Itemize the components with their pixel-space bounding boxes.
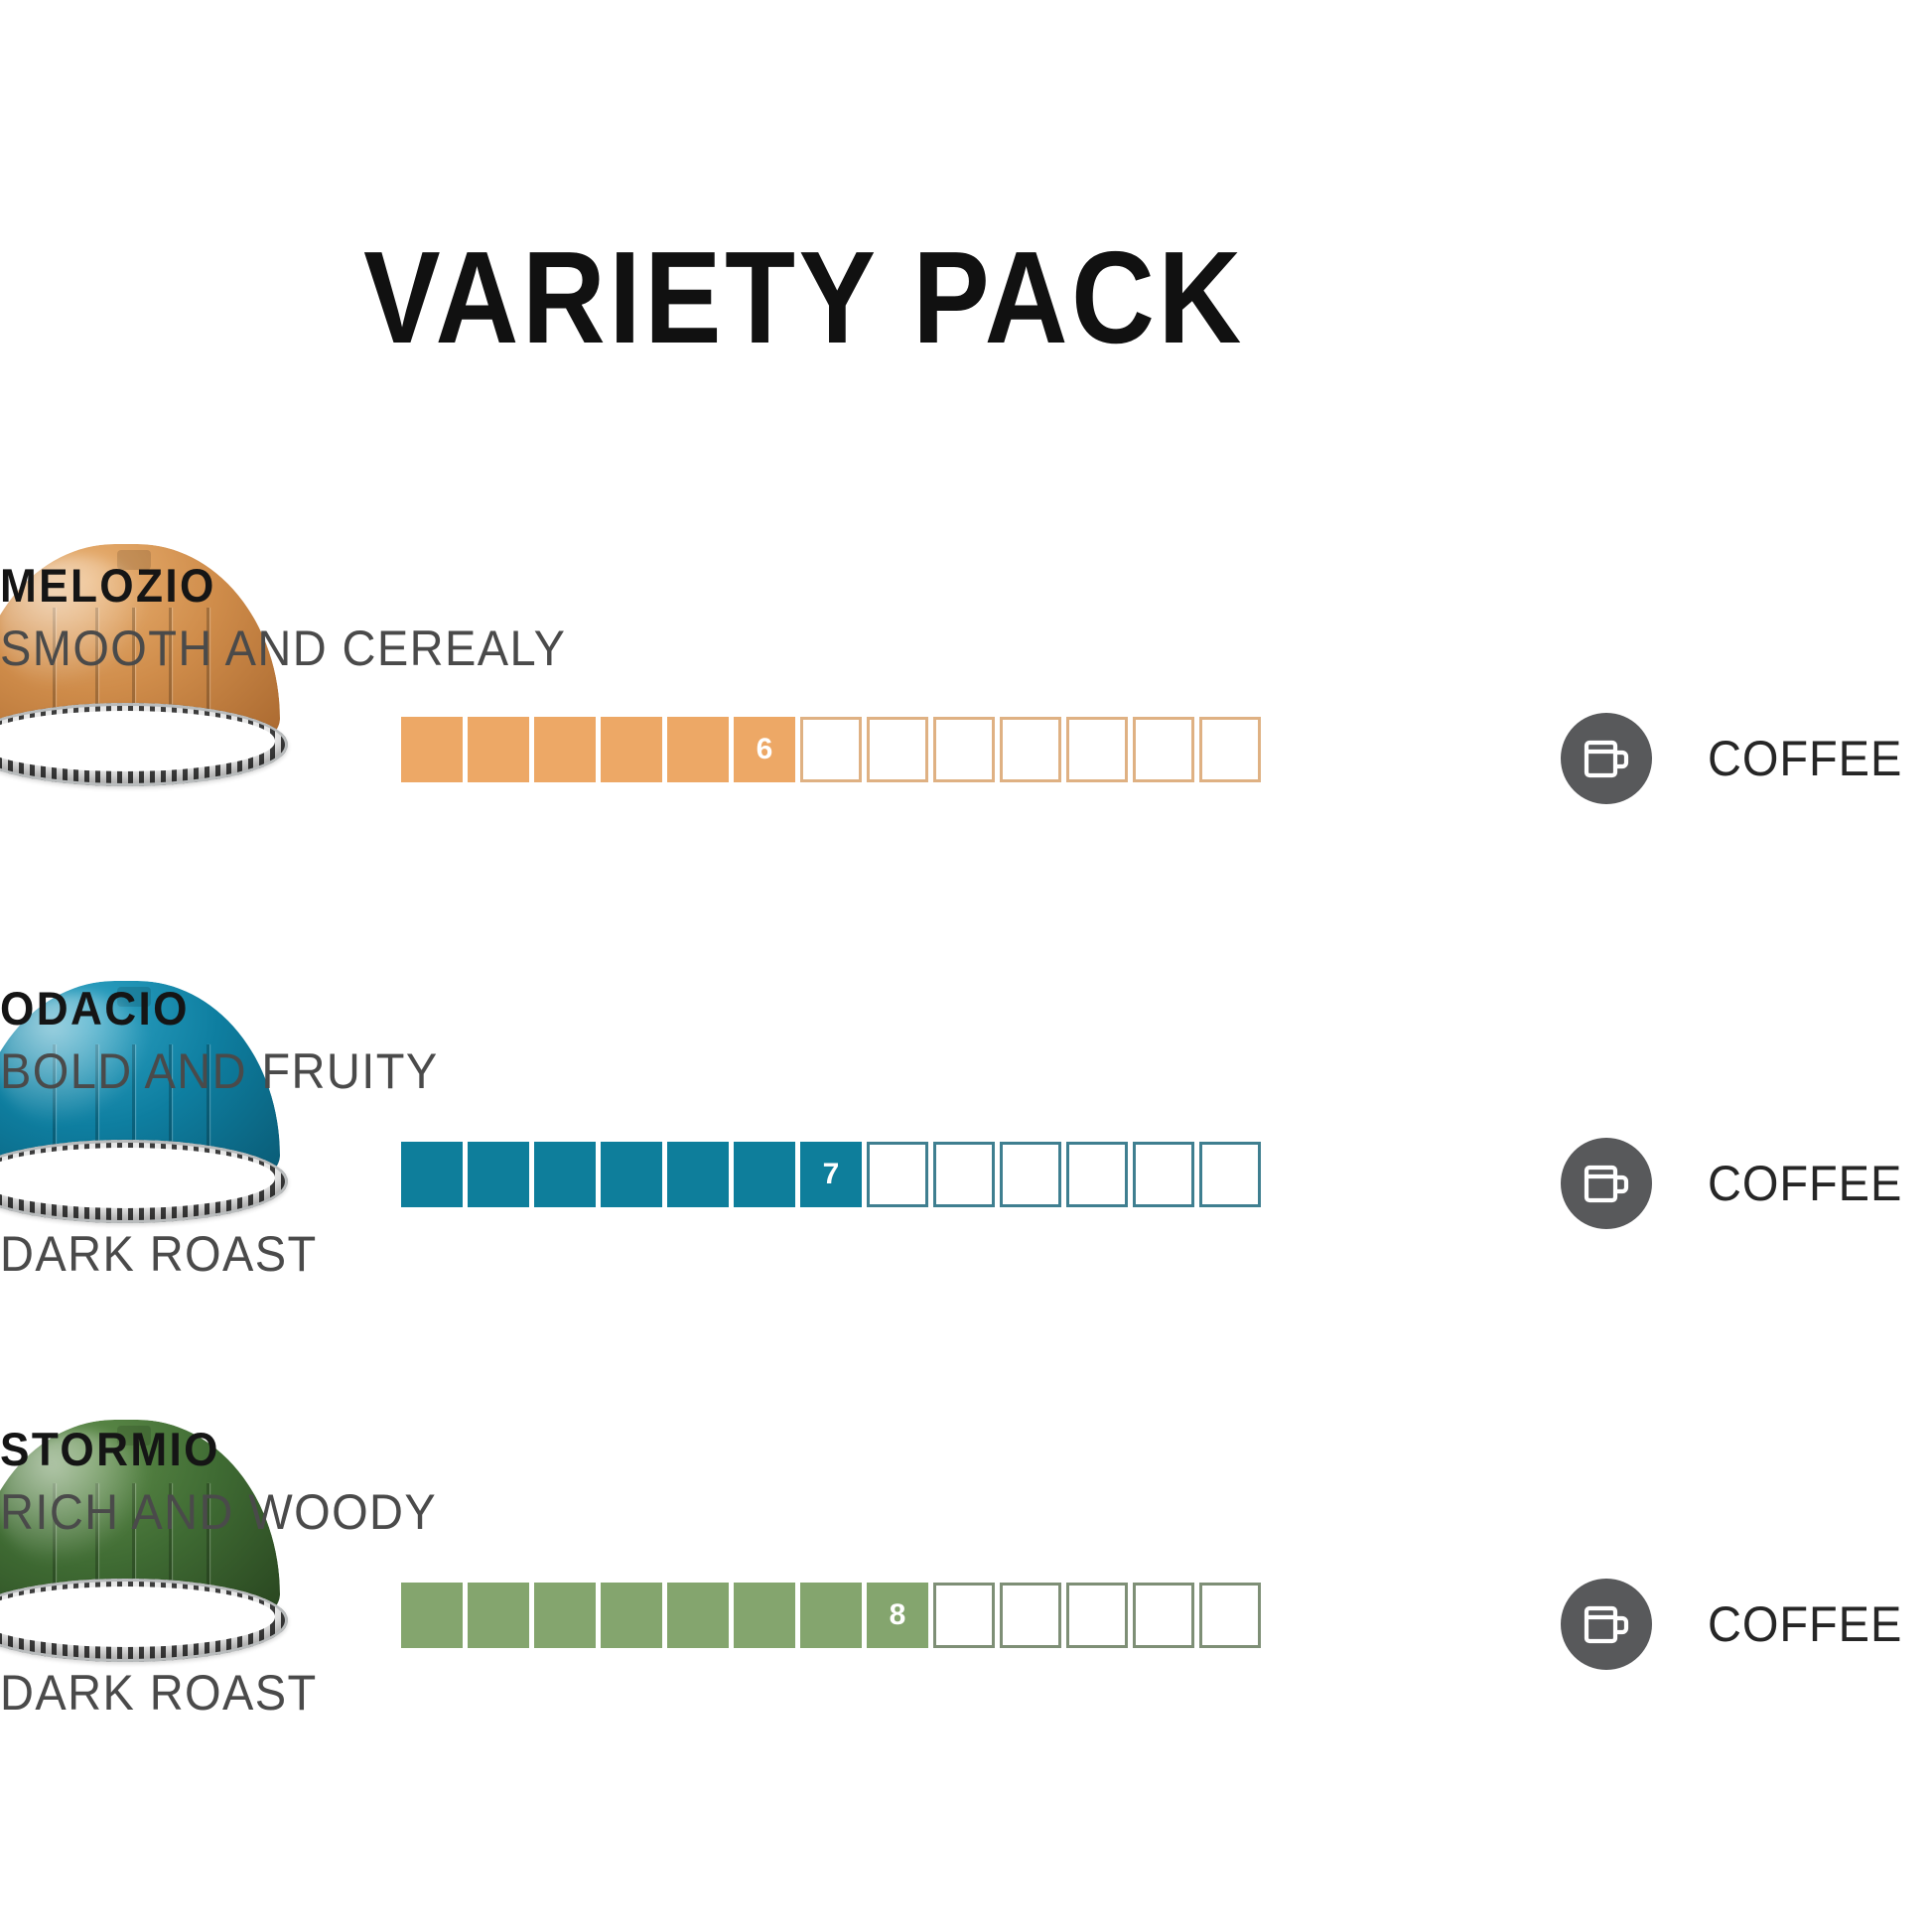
intensity-cell-filled — [667, 1583, 729, 1648]
brand-description-melozio: SMOOTH AND CEREALY — [0, 623, 566, 673]
intensity-cell-filled — [601, 1583, 662, 1648]
page-title: VARIETY PACK — [96, 232, 1512, 363]
capsule-rim-edge — [0, 703, 288, 786]
variety-row-odacio: ODACIOBOLD AND FRUITYDARK ROAST7COFFEE — [0, 963, 1932, 1291]
intensity-cell-filled — [534, 717, 596, 782]
intensity-cell-filled — [401, 1142, 463, 1207]
brand-description-odacio: BOLD AND FRUITY — [0, 1046, 439, 1096]
variety-row-stormio: STORMIORICH AND WOODYDARK ROAST8COFFEE — [0, 1402, 1932, 1729]
intensity-cell-filled — [468, 717, 529, 782]
intensity-meter-melozio: 6 — [401, 717, 1261, 782]
brand-name-odacio: ODACIO — [0, 985, 190, 1032]
intensity-cell-empty — [933, 717, 995, 782]
coffee-badge-label-melozio: COFFEE — [1708, 730, 1902, 787]
intensity-cell-empty — [867, 1142, 928, 1207]
intensity-cell-filled — [534, 1583, 596, 1648]
intensity-cell-empty — [933, 1583, 995, 1648]
intensity-cell-filled — [601, 717, 662, 782]
intensity-cell-filled — [667, 717, 729, 782]
intensity-cell-empty — [1000, 1142, 1061, 1207]
intensity-cell-empty — [1066, 1142, 1128, 1207]
intensity-cell-filled — [800, 1583, 862, 1648]
intensity-meter-stormio: 8 — [401, 1583, 1261, 1648]
intensity-cell-empty — [1199, 717, 1261, 782]
intensity-cell-empty — [1133, 1142, 1194, 1207]
capsule-rim-edge — [0, 1579, 288, 1662]
intensity-cell-filled — [667, 1142, 729, 1207]
intensity-value-cell: 7 — [800, 1142, 862, 1207]
variety-row-melozio: MELOZIOSMOOTH AND CEREALY6COFFEE — [0, 526, 1932, 854]
roast-label-odacio: DARK ROAST — [0, 1229, 318, 1279]
intensity-cell-empty — [1000, 1583, 1061, 1648]
intensity-value-cell: 6 — [734, 717, 795, 782]
coffee-badge-stormio: COFFEE — [1561, 1579, 1915, 1670]
intensity-cell-empty — [800, 717, 862, 782]
intensity-cell-filled — [401, 717, 463, 782]
coffee-mug-icon — [1561, 1579, 1652, 1670]
brand-name-melozio: MELOZIO — [0, 562, 216, 609]
coffee-badge-odacio: COFFEE — [1561, 1138, 1915, 1229]
intensity-cell-filled — [534, 1142, 596, 1207]
intensity-cell-empty — [867, 717, 928, 782]
intensity-cell-empty — [1199, 1583, 1261, 1648]
intensity-cell-empty — [1199, 1142, 1261, 1207]
capsule-rim-edge — [0, 1140, 288, 1223]
roast-label-stormio: DARK ROAST — [0, 1668, 318, 1718]
coffee-mug-icon — [1561, 713, 1652, 804]
brand-name-stormio: STORMIO — [0, 1426, 220, 1472]
intensity-value-cell: 8 — [867, 1583, 928, 1648]
intensity-cell-filled — [734, 1583, 795, 1648]
coffee-badge-label-odacio: COFFEE — [1708, 1155, 1902, 1212]
intensity-cell-filled — [468, 1142, 529, 1207]
intensity-cell-empty — [1000, 717, 1061, 782]
intensity-cell-empty — [933, 1142, 995, 1207]
intensity-cell-filled — [468, 1583, 529, 1648]
intensity-cell-empty — [1133, 1583, 1194, 1648]
intensity-cell-empty — [1066, 1583, 1128, 1648]
coffee-mug-icon — [1561, 1138, 1652, 1229]
intensity-cell-filled — [601, 1142, 662, 1207]
coffee-badge-melozio: COFFEE — [1561, 713, 1915, 804]
coffee-badge-label-stormio: COFFEE — [1708, 1595, 1902, 1653]
intensity-meter-odacio: 7 — [401, 1142, 1261, 1207]
brand-description-stormio: RICH AND WOODY — [0, 1487, 437, 1537]
intensity-cell-empty — [1133, 717, 1194, 782]
intensity-cell-filled — [401, 1583, 463, 1648]
intensity-cell-empty — [1066, 717, 1128, 782]
intensity-cell-filled — [734, 1142, 795, 1207]
